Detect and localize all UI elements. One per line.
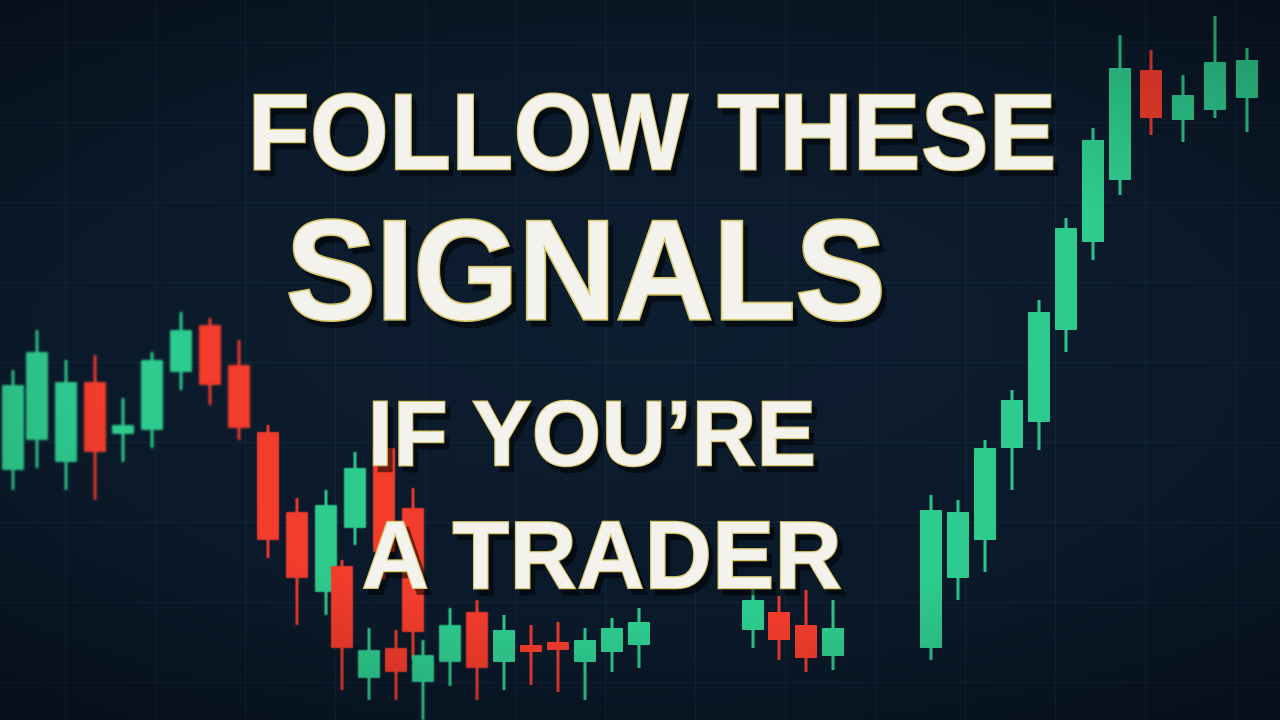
candlestick-bearish xyxy=(1140,0,1162,720)
candlestick-body xyxy=(601,628,623,652)
candlestick-body xyxy=(974,448,996,540)
candlestick-body xyxy=(1001,400,1023,448)
candlestick-body xyxy=(331,566,353,648)
candlestick-body xyxy=(1055,228,1077,330)
candlestick-body xyxy=(112,425,134,434)
candlestick-bearish xyxy=(795,0,817,720)
candlestick-body xyxy=(84,382,106,452)
candlestick-body xyxy=(1028,312,1050,422)
candlestick-body xyxy=(1204,62,1226,110)
candlestick-bearish xyxy=(199,0,221,720)
candlestick-body xyxy=(1236,60,1258,98)
candlestick-body xyxy=(1172,95,1194,120)
candlestick-bullish xyxy=(1172,0,1194,720)
candlestick-bullish xyxy=(947,0,969,720)
candlestick-bullish xyxy=(1109,0,1131,720)
candlestick-bullish xyxy=(55,0,77,720)
candlestick-bearish xyxy=(768,0,790,720)
candlestick-body xyxy=(1082,140,1104,242)
candlestick-body xyxy=(742,600,764,630)
candlestick-wick xyxy=(584,628,587,700)
candlestick-bullish xyxy=(1082,0,1104,720)
candlestick-bullish xyxy=(1236,0,1258,720)
candlestick-body xyxy=(55,382,77,462)
candlestick-bullish xyxy=(1204,0,1226,720)
candlestick-body xyxy=(520,645,542,652)
candlestick-body xyxy=(26,352,48,440)
candlestick-body xyxy=(822,628,844,656)
candlestick-bullish xyxy=(141,0,163,720)
candlestick-body xyxy=(947,512,969,578)
candlestick-bearish xyxy=(331,0,353,720)
candlestick-body xyxy=(257,432,279,540)
candlestick-bearish xyxy=(257,0,279,720)
candlestick-bullish xyxy=(1028,0,1050,720)
candlestick-bullish xyxy=(358,0,380,720)
candlestick-bullish xyxy=(742,0,764,720)
thumbnail-canvas: FOLLOW THESE SIGNALS IF YOU’RE A TRADER xyxy=(0,0,1280,720)
candlestick-body xyxy=(466,612,488,668)
candlestick-bullish xyxy=(1055,0,1077,720)
candlestick-bearish xyxy=(84,0,106,720)
candlestick-bullish xyxy=(628,0,650,720)
candlestick-bearish xyxy=(385,0,407,720)
candlestick-body xyxy=(2,385,24,470)
candlestick-body xyxy=(768,612,790,640)
candlestick-body xyxy=(170,330,192,372)
candlestick-bullish xyxy=(601,0,623,720)
candlestick-bullish xyxy=(493,0,515,720)
candlestick-body xyxy=(199,325,221,385)
candlestick-body xyxy=(920,510,942,648)
candlestick-body xyxy=(412,655,434,682)
candlestick-bearish xyxy=(466,0,488,720)
candlestick-body xyxy=(574,640,596,662)
candlestick-bullish xyxy=(574,0,596,720)
candlestick-bearish xyxy=(228,0,250,720)
candlestick-bearish xyxy=(547,0,569,720)
candlestick-body xyxy=(547,642,569,650)
candlestick-body xyxy=(439,625,461,662)
candlestick-body xyxy=(228,365,250,428)
candlestick-body xyxy=(1109,68,1131,180)
candlestick-bearish xyxy=(286,0,308,720)
candlestick-bullish xyxy=(1001,0,1023,720)
candlestick-wick xyxy=(530,625,533,685)
candlestick-bullish xyxy=(412,0,434,720)
candlestick-bullish xyxy=(170,0,192,720)
candlestick-body xyxy=(358,650,380,678)
candlestick-body xyxy=(141,360,163,430)
candlestick-bullish xyxy=(920,0,942,720)
candlestick-body xyxy=(1140,70,1162,118)
candlestick-wick xyxy=(557,622,560,692)
candlestick-bullish xyxy=(112,0,134,720)
candlestick-bullish xyxy=(439,0,461,720)
candlestick-body xyxy=(795,625,817,658)
candlestick-bearish xyxy=(520,0,542,720)
candlestick-bullish xyxy=(2,0,24,720)
candlestick-bullish xyxy=(822,0,844,720)
candlestick-body xyxy=(286,512,308,578)
candlestick-body xyxy=(628,622,650,645)
candlestick-bullish xyxy=(974,0,996,720)
candlestick-chart xyxy=(0,0,1280,720)
candlestick-body xyxy=(385,648,407,672)
candlestick-body xyxy=(493,630,515,662)
candlestick-bullish xyxy=(26,0,48,720)
